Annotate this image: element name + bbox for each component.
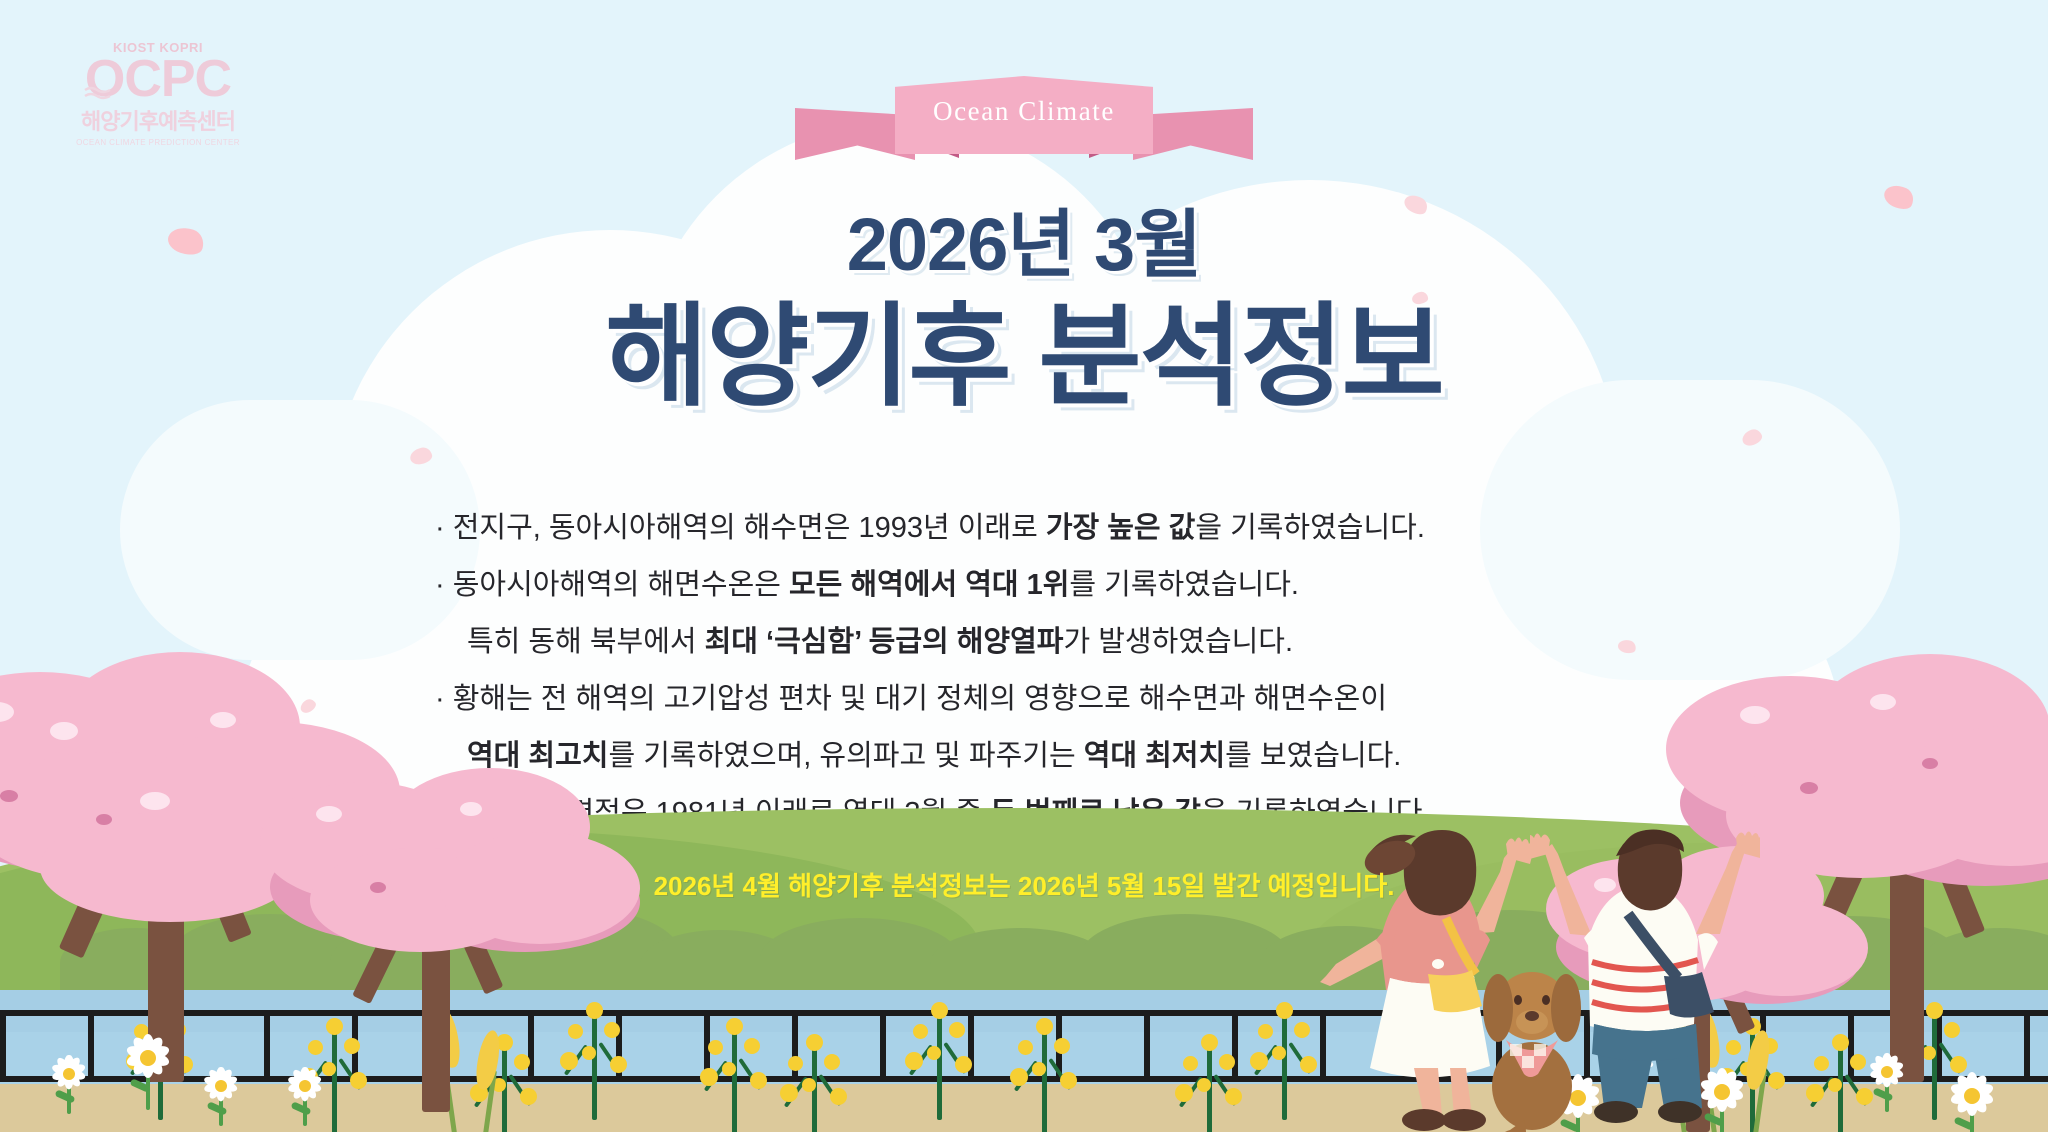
ocean-climate-ribbon: Ocean Climate [809,62,1239,172]
landscape-illustration [0,802,2048,1132]
next-issue-note: 2026년 4월 해양기후 분석정보는 2026년 5월 15일 발간 예정입니… [0,866,2048,903]
summary-text: · 동아시아해역의 해면수온은 [435,569,789,601]
summary-emphasis: 역대 최저치 [1084,740,1225,772]
wave-icon [84,85,112,103]
daisy-flower [1940,1068,2002,1132]
logo-name-kr: 해양기후예측센터 [58,104,258,136]
fence-post [880,1010,886,1082]
summary-text: · 황해는 전 해역의 고기압성 편차 및 대기 정체의 영향으로 해수면과 해… [435,683,1387,715]
summary-text: · 전지구, 동아시아해역의 해수면은 1993년 이래로 [435,512,1046,544]
summary-line: · 황해는 전 해역의 고기압성 편차 및 대기 정체의 영향으로 해수면과 해… [435,671,1645,728]
canola-flower [700,1018,770,1132]
daisy-flower [116,1030,178,1108]
summary-line: · 전지구, 동아시아해역의 해수면은 1993년 이래로 가장 높은 값을 기… [435,500,1645,557]
poster-title: 2026년 3월 해양기후 분석정보 [0,208,2048,417]
canola-flower [1250,1002,1320,1122]
daisy-flower [1862,1050,1924,1128]
cloud-shape [120,400,480,660]
title-main: 해양기후 분석정보 [0,298,2048,417]
daisy-flower [196,1064,258,1132]
logo-name-en: OCEAN CLIMATE PREDICTION CENTER [58,138,258,147]
poster-canvas: KIOST KOPRI OCPC 해양기후예측센터 OCEAN CLIMATE … [0,0,2048,1132]
summary-text: 가 발생하였습니다. [1063,626,1293,658]
summary-line: 특히 동해 북부에서 최대 ‘극심함’ 등급의 해양열파가 발생하였습니다. [435,614,1645,671]
summary-text: 를 보였습니다. [1225,740,1401,772]
summary-emphasis: 가장 높은 값 [1046,512,1196,544]
daisy-flower [280,1064,342,1132]
canola-flower [780,1034,850,1132]
ocpc-logo[interactable]: KIOST KOPRI OCPC 해양기후예측센터 OCEAN CLIMATE … [58,40,258,147]
dog-sitting [1466,944,1598,1132]
summary-emphasis: 모든 해역에서 역대 1위 [789,569,1069,601]
canola-flower [1010,1018,1080,1132]
summary-text: 특히 동해 북부에서 [467,626,705,658]
summary-text: 를 기록하였습니다. [1069,569,1299,601]
canola-flower [1175,1034,1245,1132]
fence-post [1144,1010,1150,1082]
daisy-flower [44,1052,106,1130]
title-year-month: 2026년 3월 [0,208,2048,282]
summary-line: · 동아시아해역의 해면수온은 모든 해역에서 역대 1위를 기록하였습니다. [435,557,1645,614]
summary-text: 을 기록하였습니다. [1195,512,1425,544]
ribbon-label: Ocean Climate [809,96,1239,127]
canola-flower [905,1002,975,1122]
summary-emphasis: 최대 ‘극심함’ 등급의 해양열파 [705,626,1064,658]
summary-text: 를 기록하였으며, 유의파고 및 파주기는 [608,740,1083,772]
